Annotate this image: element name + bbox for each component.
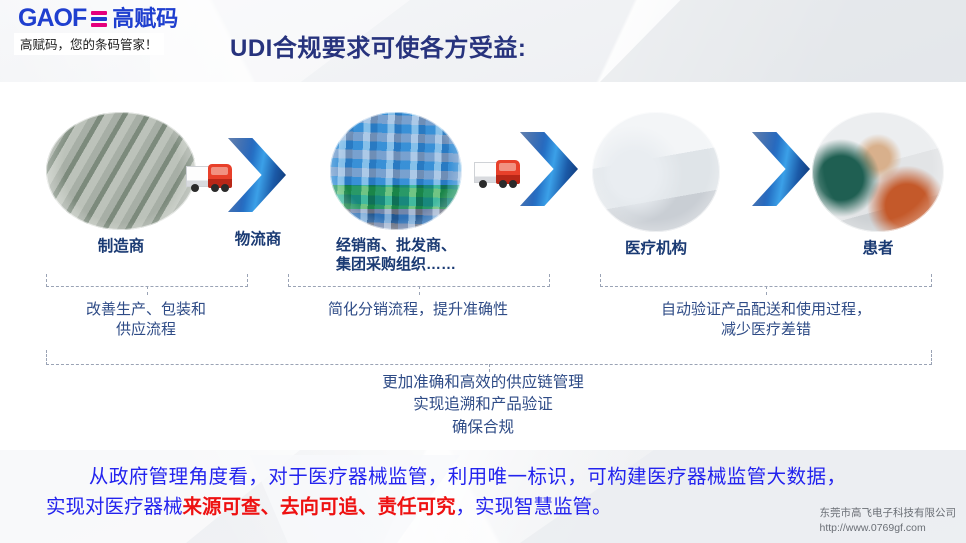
summary-line-3: 确保合规 xyxy=(0,417,966,439)
hospital-photo xyxy=(592,112,720,232)
logo-wordmark: GAOF xyxy=(18,6,86,31)
benefit-caption-line: 简化分销流程，提升准确性 xyxy=(268,300,568,320)
patient-photo xyxy=(812,112,944,232)
flow-node-label: 医疗机构 xyxy=(592,239,720,258)
logo-chinese-name: 高赋码 xyxy=(112,8,178,30)
flow-node-patient[interactable]: 患者 xyxy=(812,112,944,258)
benefit-caption-1: 改善生产、包装和 供应流程 xyxy=(16,300,276,341)
summary-line-1: 更加准确和高效的供应链管理 xyxy=(0,372,966,394)
benefit-caption-line: 减少医疗差错 xyxy=(596,320,936,340)
logo-tagline: 高赋码，您的条码管家！ xyxy=(14,33,164,55)
flow-node-label: 经销商、批发商、 xyxy=(291,237,501,256)
footer-company: 东莞市高飞电子科技有限公司 xyxy=(820,506,957,521)
paragraph-part-2: ，实现智慧监管。 xyxy=(456,496,612,518)
truck-icon xyxy=(186,162,232,192)
page-title: UDI合规要求可使各方受益: xyxy=(230,28,526,63)
footer-credit: 东莞市高飞电子科技有限公司 http://www.0769gf.com xyxy=(820,506,957,536)
benefit-caption-line: 供应流程 xyxy=(16,320,276,340)
benefit-caption-2: 简化分销流程，提升准确性 xyxy=(268,300,568,320)
warehouse-photo xyxy=(330,112,462,230)
paragraph-highlight: 来源可查、去向可追、责任可究 xyxy=(183,496,456,518)
benefit-bracket-3 xyxy=(600,274,932,287)
summary-text: 更加准确和高效的供应链管理 实现追溯和产品验证 确保合规 xyxy=(0,372,966,439)
flow-node-label: 制造商 xyxy=(46,237,196,256)
slide-header: GAOF 高赋码 高赋码，您的条码管家！ UDI合规要求可使各方受益: xyxy=(0,0,966,82)
slide-background: GAOF 高赋码 高赋码，您的条码管家！ UDI合规要求可使各方受益: 制造商 xyxy=(0,0,966,543)
summary-bracket xyxy=(46,350,932,365)
flow-node-distributor[interactable]: 经销商、批发商、 集团采购组织…… xyxy=(330,112,462,275)
bottom-paragraph: 从政府管理角度看，对于医疗器械监管，利用唯一标识，可构建医疗器械监管大数据，实现… xyxy=(46,462,846,522)
chevron-right-icon xyxy=(752,132,810,206)
flow-node-label: 患者 xyxy=(812,239,944,258)
flow-node-manufacturer[interactable]: 制造商 xyxy=(46,112,196,256)
summary-line-2: 实现追溯和产品验证 xyxy=(0,394,966,416)
brand-logo: GAOF 高赋码 高赋码，您的条码管家！ xyxy=(14,6,200,55)
factory-photo xyxy=(46,112,196,230)
benefit-bracket-1 xyxy=(46,274,248,287)
supply-chain-flow: 制造商 物流商 经销商、批发商、 集团采购组织…… xyxy=(0,100,966,270)
truck-icon xyxy=(474,158,520,188)
benefit-caption-line: 改善生产、包装和 xyxy=(16,300,276,320)
logo-row: GAOF 高赋码 xyxy=(14,6,200,31)
benefit-caption-line: 自动验证产品配送和使用过程， xyxy=(596,300,936,320)
benefit-bracket-2 xyxy=(288,274,550,287)
logo-bars-icon xyxy=(89,11,109,27)
chevron-right-icon xyxy=(520,132,578,206)
footer-url: http://www.0769gf.com xyxy=(820,521,957,536)
content-panel: 制造商 物流商 经销商、批发商、 集团采购组织…… xyxy=(0,82,966,450)
flow-node-hospital[interactable]: 医疗机构 xyxy=(592,112,720,258)
flow-node-label-2: 集团采购组织…… xyxy=(291,256,501,275)
benefit-caption-3: 自动验证产品配送和使用过程， 减少医疗差错 xyxy=(596,300,936,341)
chevron-right-icon xyxy=(228,138,286,212)
